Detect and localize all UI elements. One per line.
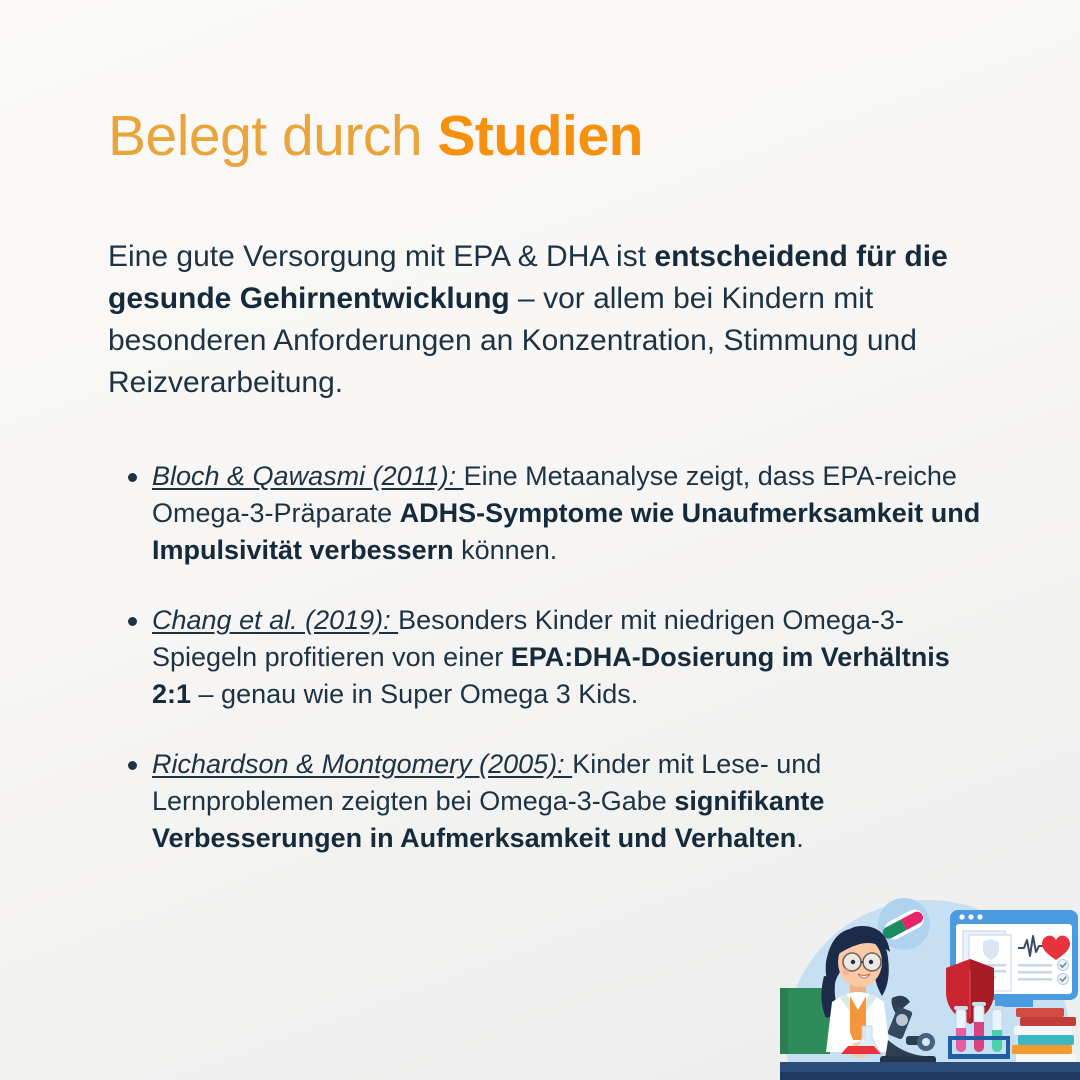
study-citation: Richardson & Montgomery (2005): bbox=[152, 749, 572, 779]
desk bbox=[780, 1062, 1080, 1080]
bullet-icon bbox=[128, 761, 137, 770]
study-text-part2: . bbox=[796, 823, 804, 853]
list-item: Chang et al. (2019): Besonders Kinder mi… bbox=[108, 602, 988, 713]
lab-scientist-illustration bbox=[780, 890, 1080, 1080]
study-text-part2: können. bbox=[454, 535, 558, 565]
bullet-icon bbox=[128, 617, 137, 626]
page-title: Belegt durch Studien bbox=[108, 104, 643, 170]
test-tubes-icon bbox=[948, 1002, 1010, 1059]
study-citation: Bloch & Qawasmi (2011): bbox=[152, 461, 464, 491]
studies-list: Bloch & Qawasmi (2011): Eine Metaanalyse… bbox=[108, 458, 988, 857]
page-title-bold: Studien bbox=[437, 104, 643, 168]
intro-paragraph: Eine gute Versorgung mit EPA & DHA ist e… bbox=[108, 236, 988, 404]
list-item: Richardson & Montgomery (2005): Kinder m… bbox=[108, 746, 988, 857]
list-item: Bloch & Qawasmi (2011): Eine Metaanalyse… bbox=[108, 458, 988, 569]
study-citation: Chang et al. (2019): bbox=[152, 605, 398, 635]
bullet-icon bbox=[128, 473, 137, 482]
intro-text-part1: Eine gute Versorgung mit EPA & DHA ist bbox=[108, 240, 654, 273]
page-title-light: Belegt durch bbox=[108, 104, 437, 168]
study-text-part2: – genau wie in Super Omega 3 Kids. bbox=[191, 679, 638, 709]
